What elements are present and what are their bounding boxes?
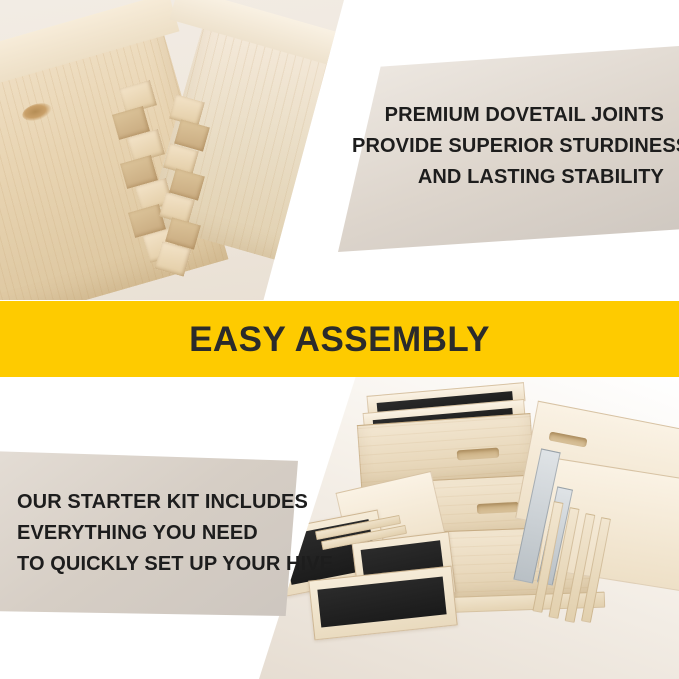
bottom-callout-line-3: TO QUICKLY SET UP YOUR HIVE: [17, 549, 307, 580]
dovetail-joint-photo: [0, 0, 344, 300]
top-callout-line-1: PREMIUM DOVETAIL JOINTS: [352, 100, 664, 131]
beehive-starter-kit-photo: [259, 377, 679, 679]
bottom-section: OUR STARTER KIT INCLUDES EVERYTHING YOU …: [0, 377, 679, 679]
easy-assembly-banner: EASY ASSEMBLY: [0, 301, 679, 377]
bottom-callout-line-1: OUR STARTER KIT INCLUDES: [17, 487, 307, 518]
top-callout-line-2: PROVIDE SUPERIOR STURDINESS: [352, 131, 664, 162]
product-feature-infographic: PREMIUM DOVETAIL JOINTS PROVIDE SUPERIOR…: [0, 0, 679, 679]
top-callout-line-3: AND LASTING STABILITY: [352, 162, 664, 193]
banner-label: EASY ASSEMBLY: [189, 322, 490, 357]
bottom-callout-line-2: EVERYTHING YOU NEED: [17, 518, 307, 549]
top-callout-text: PREMIUM DOVETAIL JOINTS PROVIDE SUPERIOR…: [352, 100, 664, 193]
bottom-callout-text: OUR STARTER KIT INCLUDES EVERYTHING YOU …: [17, 487, 307, 580]
top-section: PREMIUM DOVETAIL JOINTS PROVIDE SUPERIOR…: [0, 0, 679, 300]
